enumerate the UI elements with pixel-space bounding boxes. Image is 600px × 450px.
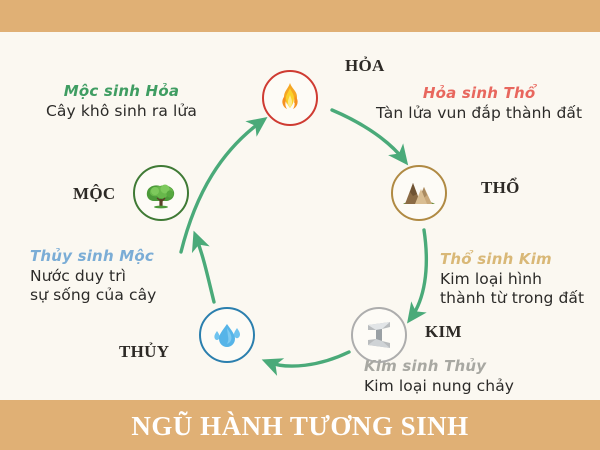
relation-desc-line: Kim loại nung chảy [364, 377, 514, 396]
element-label-hoa: HỎA [345, 56, 385, 76]
relation-moc-sinh-hoa: Mộc sinh Hỏa Cây khô sinh ra lửa [46, 82, 197, 121]
arrow-kim-to-thuy [268, 352, 349, 366]
relation-desc-line: Tàn lửa vun đắp thành đất [376, 104, 582, 123]
top-color-band [0, 0, 600, 32]
tree-icon [142, 176, 180, 210]
node-hoa[interactable] [262, 70, 318, 126]
water-drop-icon [209, 319, 245, 351]
banner-title: NGŨ HÀNH TƯƠNG SINH [0, 402, 600, 450]
relation-title: Kim sinh Thủy [364, 357, 514, 375]
node-kim[interactable] [351, 307, 407, 363]
element-label-tho: THỔ [481, 178, 520, 198]
element-label-kim: KIM [425, 322, 462, 342]
relation-title: Thủy sinh Mộc [30, 247, 156, 265]
relation-desc-line: sự sống của cây [30, 286, 156, 305]
relation-desc-line: Cây khô sinh ra lửa [46, 102, 197, 121]
metal-beam-icon [362, 318, 396, 352]
arrow-tho-to-kim [411, 230, 426, 318]
element-label-moc: MỘC [73, 184, 115, 204]
infographic-page: HỎA THỔ KIM THỦY MỘC Mộc sinh Hỏa Cây kh… [0, 0, 600, 450]
node-tho[interactable] [391, 165, 447, 221]
element-label-thuy: THỦY [119, 342, 169, 362]
relation-title: Mộc sinh Hỏa [46, 82, 197, 100]
cycle-diagram: HỎA THỔ KIM THỦY MỘC Mộc sinh Hỏa Cây kh… [0, 32, 600, 400]
relation-title: Hỏa sinh Thổ [376, 84, 582, 102]
arrow-thuy-to-moc [196, 237, 214, 302]
fire-icon [273, 81, 307, 115]
mountain-icon [401, 178, 437, 208]
relation-thuy-sinh-moc: Thủy sinh Mộc Nước duy trì sự sống của c… [30, 247, 156, 305]
relation-tho-sinh-kim: Thổ sinh Kim Kim loại hình thành từ tron… [440, 250, 584, 308]
relation-desc-line: Nước duy trì [30, 267, 156, 286]
relation-desc-line: Kim loại hình [440, 270, 584, 289]
relation-hoa-sinh-tho: Hỏa sinh Thổ Tàn lửa vun đắp thành đất [376, 84, 582, 123]
arrow-moc-to-hoa [181, 121, 262, 252]
relation-title: Thổ sinh Kim [440, 250, 584, 268]
relation-desc-line: thành từ trong đất [440, 289, 584, 308]
node-thuy[interactable] [199, 307, 255, 363]
node-moc[interactable] [133, 165, 189, 221]
relation-kim-sinh-thuy: Kim sinh Thủy Kim loại nung chảy [364, 357, 514, 396]
